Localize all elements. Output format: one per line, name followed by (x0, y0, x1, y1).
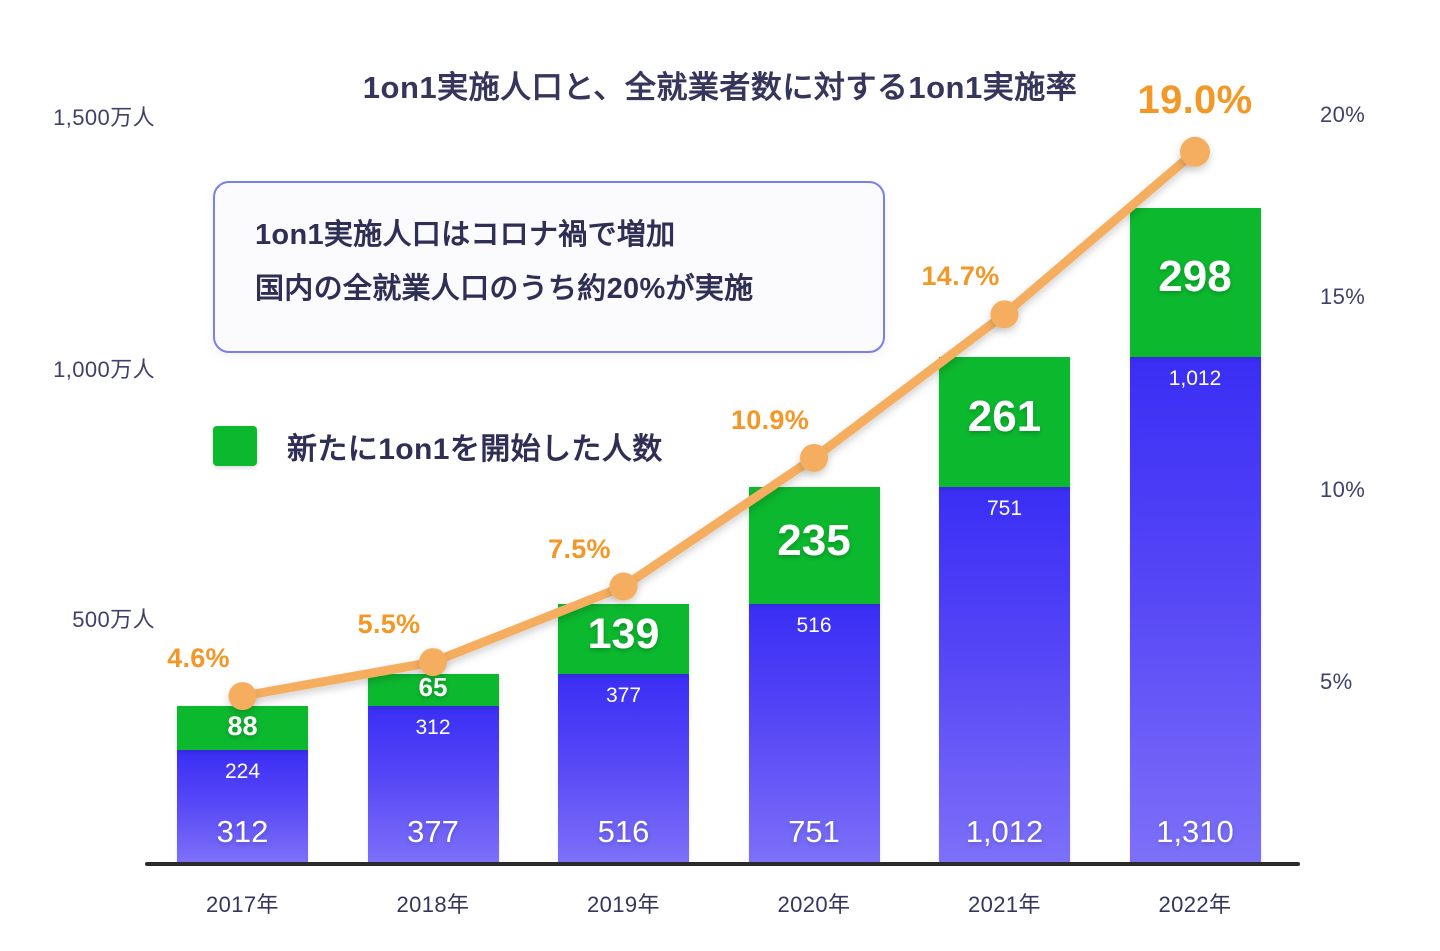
x-axis-label: 2021年 (939, 887, 1070, 919)
rate-value-label: 4.6% (99, 643, 299, 674)
bar-value-previous: 224 (177, 760, 308, 784)
rate-value-label: 5.5% (289, 609, 489, 640)
axis-right-tick-5: 5% (1320, 669, 1353, 695)
bar-value-new: 139 (558, 610, 689, 659)
bar-column: 2981,0121,3102022年 (1130, 0, 1261, 862)
bar-value-new: 235 (749, 516, 880, 566)
bar-value-total: 312 (177, 814, 308, 850)
bar-value-previous: 312 (368, 716, 499, 740)
x-axis-label: 2022年 (1130, 887, 1261, 919)
rate-value-label: 19.0% (1095, 78, 1295, 123)
bar-segment-continuing (1130, 357, 1261, 862)
x-axis-label: 2020年 (749, 887, 880, 919)
bar-value-total: 1,310 (1130, 814, 1261, 850)
rate-value-label: 14.7% (861, 261, 1061, 292)
bar-value-previous: 1,012 (1130, 367, 1261, 391)
bar-value-previous: 377 (558, 684, 689, 708)
bar-column: 882243122017年 (177, 0, 308, 862)
x-axis-label: 2017年 (177, 887, 308, 919)
bar-segment-continuing (939, 487, 1070, 862)
axis-left-tick-1500: 1,500万人 (53, 100, 155, 132)
bar-value-total: 751 (749, 814, 880, 850)
bar-value-new: 65 (368, 672, 499, 703)
bar-value-new: 298 (1130, 252, 1261, 302)
chart-canvas: 1on1実施人口と、全就業者数に対する1on1実施率 1,500万人 1,000… (0, 0, 1440, 951)
bar-value-new: 261 (939, 392, 1070, 442)
bar-value-total: 377 (368, 814, 499, 850)
rate-value-label: 10.9% (670, 405, 870, 436)
bar-value-previous: 516 (749, 614, 880, 638)
bar-column: 653123772018年 (368, 0, 499, 862)
axis-right-tick-15: 15% (1320, 284, 1365, 310)
bar-value-total: 516 (558, 814, 689, 850)
axis-left-tick-1000: 1,000万人 (53, 352, 155, 384)
x-axis-baseline (145, 862, 1300, 866)
x-axis-label: 2018年 (368, 887, 499, 919)
axis-right-tick-20: 20% (1320, 102, 1365, 128)
axis-right-tick-10: 10% (1320, 477, 1365, 503)
bar-value-previous: 751 (939, 497, 1070, 521)
axis-left-tick-500: 500万人 (72, 602, 155, 634)
rate-value-label: 7.5% (480, 534, 680, 565)
bar-column: 2617511,0122021年 (939, 0, 1070, 862)
x-axis-label: 2019年 (558, 887, 689, 919)
bar-value-new: 88 (177, 710, 308, 742)
bar-value-total: 1,012 (939, 814, 1070, 850)
